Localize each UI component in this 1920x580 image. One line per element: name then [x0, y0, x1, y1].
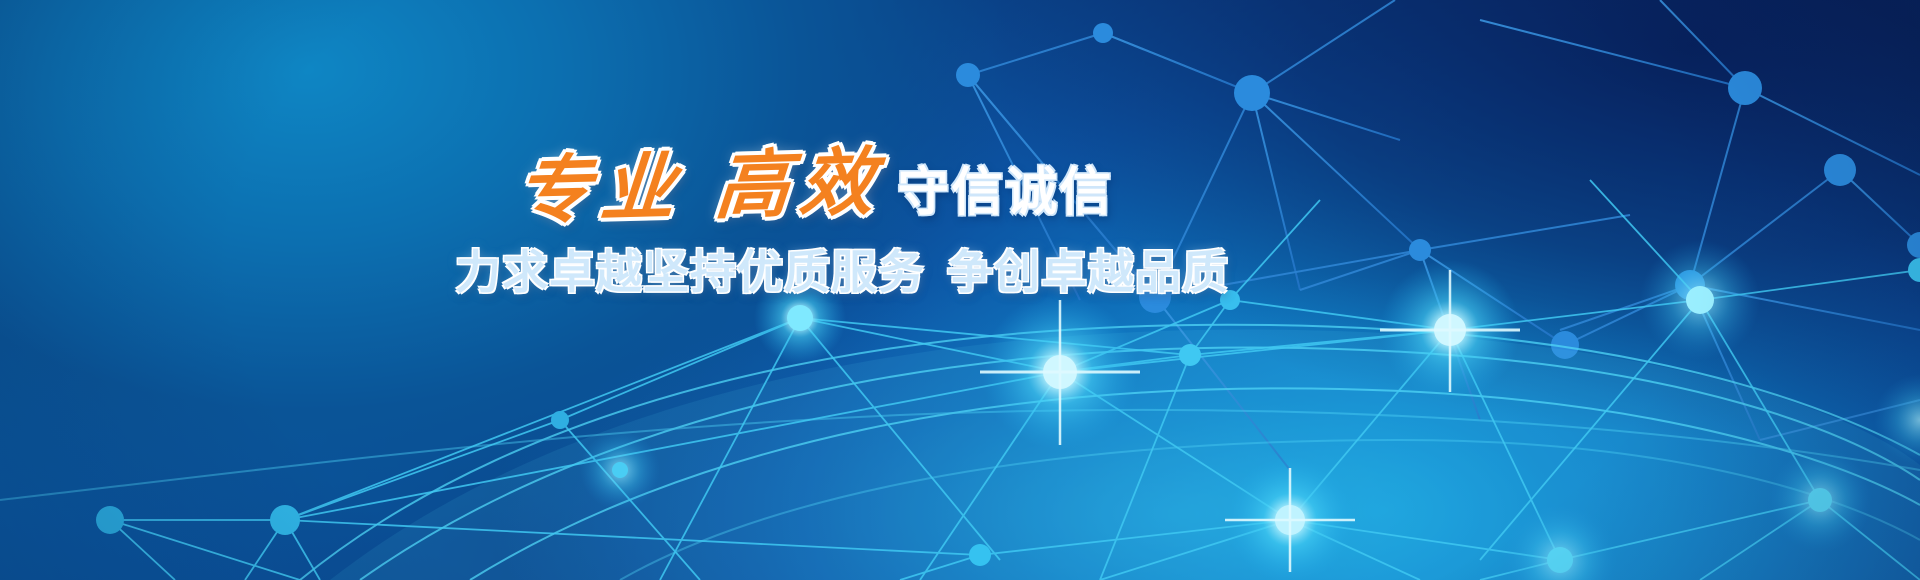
banner-subtitle: 力求卓越坚持优质服务争创卓越品质: [455, 236, 1175, 302]
headline-white-text: 守信诚信: [897, 167, 1113, 224]
banner-copy: 专业 高效 守信诚信 力求卓越坚持优质服务争创卓越品质: [455, 150, 1175, 302]
subtitle-part-2: 争创卓越品质: [947, 246, 1229, 298]
subtitle-part-1: 力求卓越坚持优质服务: [455, 246, 925, 298]
headline-accent-text: 专业 高效: [513, 145, 886, 229]
banner-headline: 专业 高效 守信诚信: [455, 150, 1175, 224]
promo-banner: 专业 高效 守信诚信 力求卓越坚持优质服务争创卓越品质: [0, 0, 1920, 580]
